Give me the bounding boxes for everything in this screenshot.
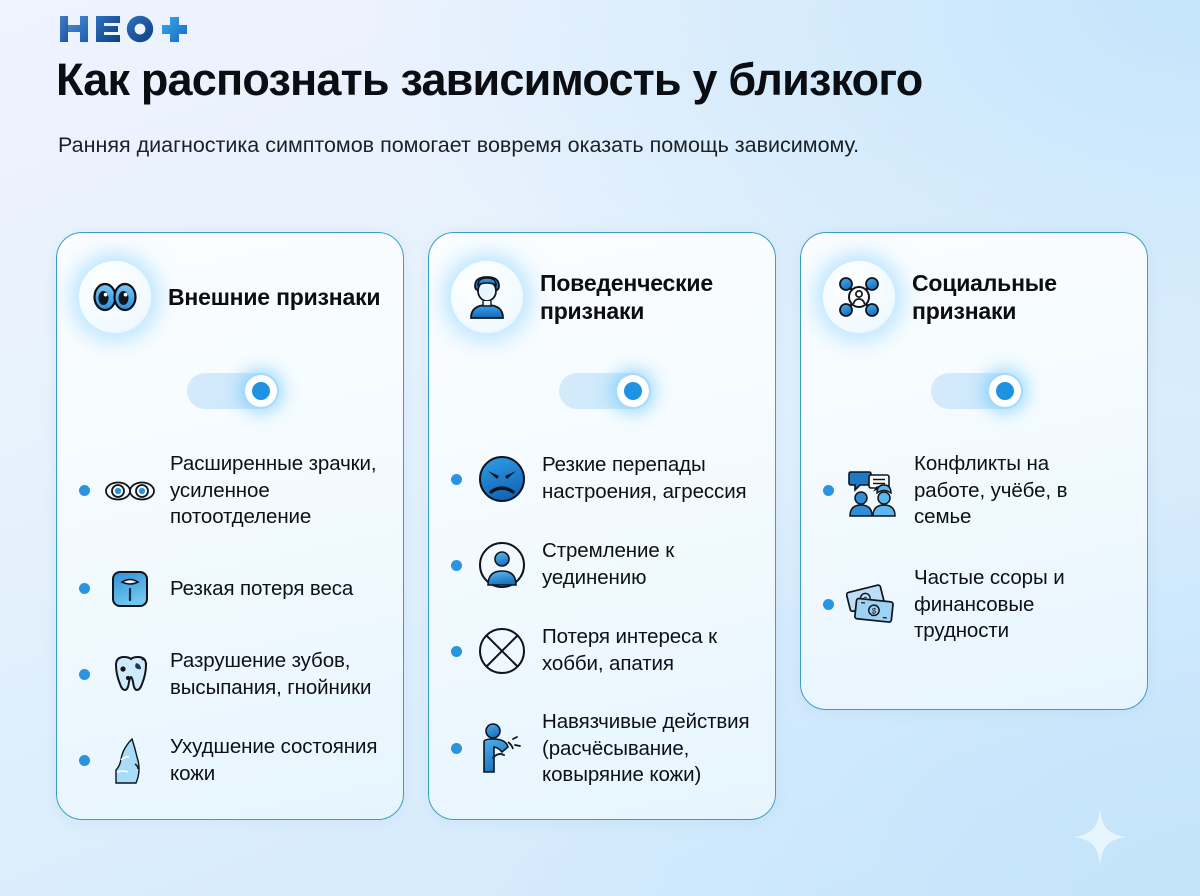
page-subtitle: Ранняя диагностика симптомов помогает во… [58,129,958,162]
bullet-dot [79,669,90,680]
bullet-dot [451,560,462,571]
list-item-text: Навязчивые действия (расчёсывание, ковыр… [542,709,753,789]
bullet-dot [79,755,90,766]
toggle-knob [617,375,649,407]
card-header: Социальные признаки [823,259,1125,335]
social-network-icon [823,261,895,333]
toggle-knob [989,375,1021,407]
list-item-text: Расширенные зрачки, усиленное потоотделе… [170,451,381,531]
list-item: Стремление к уединению [451,537,753,593]
money-banknotes-icon: $ $ [846,577,902,633]
signs-list: Расширенные зрачки, усиленное потоотделе… [79,451,381,789]
card-toggle-switch[interactable] [187,373,279,409]
card-toggle-switch[interactable] [931,373,1023,409]
card-title: Социальные признаки [912,269,1125,325]
bullet-dot [451,743,462,754]
list-item: Резкая потеря веса [79,561,381,617]
toggle-wrapper [79,373,381,409]
bullet-dot [823,485,834,496]
list-item-text: Конфликты на работе, учёбе, в семье [914,451,1125,531]
bullet-dot [823,599,834,610]
list-item: $ $ Частые ссоры и финансовые трудности [823,565,1125,645]
conflict-people-icon [846,463,902,519]
signs-list: Резкие перепады настроения, агрессия Стр… [451,451,753,789]
card-social-signs: Социальные признаки [800,232,1148,710]
list-item: Потеря интереса к хобби, апатия [451,623,753,679]
cards-container: Внешние признаки Расширенные [56,232,1148,820]
scratching-person-icon [474,721,530,777]
person-avatar-icon [451,261,523,333]
page-title: Как распознать зависимость у близкого [56,56,1176,105]
card-header: Внешние признаки [79,259,381,335]
eyes-icon [79,261,151,333]
crossed-circle-icon [474,623,530,679]
toggle-knob [245,375,277,407]
bullet-dot [451,646,462,657]
list-item-text: Частые ссоры и финансовые трудности [914,565,1125,645]
bullet-dot [79,485,90,496]
toggle-wrapper [451,373,753,409]
toggle-wrapper [823,373,1125,409]
list-item-text: Разрушение зубов, высыпания, гнойники [170,648,381,701]
bullet-dot [451,474,462,485]
list-item-text: Ухудшение состояния кожи [170,734,381,787]
list-item: Расширенные зрачки, усиленное потоотделе… [79,451,381,531]
card-behavioral-signs: Поведенческие признаки [428,232,776,820]
card-title: Поведенческие признаки [540,269,753,325]
list-item: Разрушение зубов, высыпания, гнойники [79,647,381,703]
lonely-person-icon [474,537,530,593]
brand-logo [58,14,206,44]
list-item-text: Потеря интереса к хобби, апатия [542,624,753,677]
bullet-dot [79,583,90,594]
list-item: Ухудшение состояния кожи [79,733,381,789]
list-item-text: Резкая потеря веса [170,576,353,603]
signs-list: Конфликты на работе, учёбе, в семье $ [823,451,1125,679]
card-external-signs: Внешние признаки Расширенные [56,232,404,820]
card-toggle-switch[interactable] [559,373,651,409]
skin-face-icon [102,733,158,789]
decayed-tooth-icon [102,647,158,703]
list-item: Резкие перепады настроения, агрессия [451,451,753,507]
card-title: Внешние признаки [168,283,380,311]
list-item-text: Резкие перепады настроения, агрессия [542,452,753,505]
dilated-pupils-icon [102,463,158,519]
card-header: Поведенческие признаки [451,259,753,335]
weight-scale-icon [102,561,158,617]
list-item: Навязчивые действия (расчёсывание, ковыр… [451,709,753,789]
list-item-text: Стремление к уединению [542,538,753,591]
list-item: Конфликты на работе, учёбе, в семье [823,451,1125,531]
neo-plus-logo-icon [58,14,206,44]
angry-face-icon [474,451,530,507]
